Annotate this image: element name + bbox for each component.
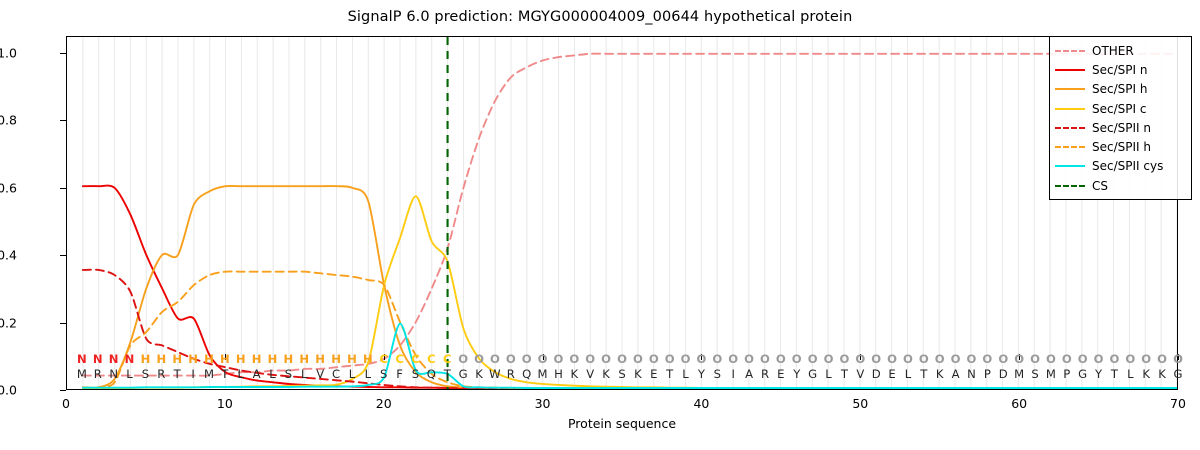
legend-swatch — [1055, 50, 1085, 52]
sequence-residue: E — [777, 367, 784, 381]
sequence-residue: T — [666, 367, 673, 381]
legend-swatch — [1055, 69, 1085, 71]
annotation-letter: C — [411, 352, 420, 366]
y-tick-label: 0.2 — [0, 315, 17, 330]
legend-swatch — [1055, 108, 1085, 110]
annotation-letter: O — [1078, 352, 1088, 366]
plot-area — [66, 36, 1178, 390]
legend-swatch — [1055, 127, 1085, 129]
legend-label: OTHER — [1092, 44, 1134, 58]
legend-swatch — [1055, 88, 1085, 90]
annotation-letter: O — [522, 352, 532, 366]
sequence-residue: T — [1111, 367, 1118, 381]
annotation-letter: H — [347, 352, 357, 366]
sequence-residue: Y — [1095, 367, 1102, 381]
annotation-letter: N — [109, 352, 119, 366]
annotation-letter: O — [744, 352, 754, 366]
sequence-residue: L — [365, 367, 371, 381]
sequence-residue: L — [269, 367, 275, 381]
legend-item-sec-spii-n[interactable]: Sec/SPII n — [1055, 118, 1186, 137]
sequence-residue: N — [967, 367, 976, 381]
annotation-letter: O — [601, 352, 611, 366]
annotation-letter: O — [776, 352, 786, 366]
y-tick-mark — [60, 53, 66, 54]
annotation-letter: C — [427, 352, 436, 366]
curve-lines — [67, 37, 1177, 389]
sequence-residue: S — [1031, 367, 1038, 381]
sequence-residue: G — [459, 367, 468, 381]
annotation-letter: O — [1125, 352, 1135, 366]
sequence-residue: L — [905, 367, 911, 381]
sequence-residue: P — [984, 367, 991, 381]
x-tick-mark — [66, 354, 67, 360]
annotation-letter: H — [156, 352, 166, 366]
sequence-residue: L — [825, 367, 831, 381]
sequence-residue: T — [841, 367, 848, 381]
x-tick-label: 60 — [1011, 396, 1027, 411]
annotation-letter: O — [1046, 352, 1056, 366]
sequence-residue: V — [316, 367, 324, 381]
annotation-letter: N — [93, 352, 103, 366]
legend-item-sec-spi-h[interactable]: Sec/SPI h — [1055, 80, 1186, 99]
legend-label: Sec/SPI c — [1092, 102, 1146, 116]
annotation-letter: O — [1110, 352, 1120, 366]
sequence-residue: N — [109, 367, 118, 381]
annotation-letter: H — [299, 352, 309, 366]
annotation-letter: O — [506, 352, 516, 366]
annotation-letter: O — [967, 352, 977, 366]
legend: OTHERSec/SPI nSec/SPI hSec/SPI cSec/SPII… — [1049, 36, 1192, 200]
annotation-letter: O — [633, 352, 643, 366]
annotation-letter: O — [569, 352, 579, 366]
annotation-letter: O — [712, 352, 722, 366]
annotation-letter: H — [363, 352, 373, 366]
legend-item-sec-spi-c[interactable]: Sec/SPI c — [1055, 99, 1186, 118]
sequence-residue: M — [204, 367, 214, 381]
sequence-residue: L — [349, 367, 355, 381]
sequence-residue: R — [761, 367, 769, 381]
legend-swatch — [1055, 185, 1085, 187]
sequence-residue: M — [77, 367, 87, 381]
annotation-letter: O — [728, 352, 738, 366]
y-tick-mark — [60, 255, 66, 256]
annotation-letter: O — [760, 352, 770, 366]
sequence-residue: L — [301, 367, 307, 381]
sequence-residue: S — [285, 367, 292, 381]
y-tick-mark — [60, 323, 66, 324]
annotation-letter: H — [315, 352, 325, 366]
legend-item-sec-spi-n[interactable]: Sec/SPI n — [1055, 60, 1186, 79]
annotation-letter: O — [982, 352, 992, 366]
legend-label: Sec/SPII h — [1092, 140, 1151, 154]
legend-swatch — [1055, 146, 1085, 148]
sequence-residue: H — [554, 367, 563, 381]
y-tick-label: 0.8 — [0, 113, 17, 128]
series-sec-spi-c — [83, 196, 1177, 388]
series-sec-spii-n — [83, 270, 1177, 389]
x-tick-label: 0 — [62, 396, 70, 411]
sequence-residue: G — [808, 367, 817, 381]
sequence-residue: E — [888, 367, 895, 381]
y-tick-mark — [60, 390, 66, 391]
sequence-residue: M — [1014, 367, 1024, 381]
signalp-prediction-figure: SignalP 6.0 prediction: MGYG000004009_00… — [0, 0, 1200, 450]
series-other — [83, 54, 1177, 376]
annotation-letter: H — [188, 352, 198, 366]
sequence-residue: T — [221, 367, 228, 381]
annotation-letter: O — [919, 352, 929, 366]
annotation-letter: O — [538, 352, 548, 366]
y-tick-label: 1.0 — [0, 45, 17, 60]
y-tick-label: 0.6 — [0, 180, 17, 195]
sequence-residue: K — [634, 367, 642, 381]
series-sec-spi-h — [83, 186, 1177, 389]
annotation-letter: O — [617, 352, 627, 366]
annotation-letter: H — [284, 352, 294, 366]
sequence-residue: Q — [427, 367, 436, 381]
x-tick-label: 20 — [376, 396, 392, 411]
sequence-residue: T — [444, 367, 451, 381]
y-tick-mark — [60, 188, 66, 189]
annotation-letter: O — [1030, 352, 1040, 366]
sequence-residue: I — [731, 367, 734, 381]
annotation-letter: O — [951, 352, 961, 366]
annotation-letter: O — [1157, 352, 1167, 366]
annotation-letter: O — [490, 352, 500, 366]
sequence-residue: A — [745, 367, 753, 381]
annotation-letter: H — [141, 352, 151, 366]
sequence-residue: R — [157, 367, 165, 381]
sequence-residue: K — [571, 367, 579, 381]
x-tick-label: 40 — [693, 396, 709, 411]
annotation-letter: H — [236, 352, 246, 366]
legend-swatch — [1055, 165, 1085, 167]
sequence-residue: C — [332, 367, 340, 381]
annotation-letter: O — [808, 352, 818, 366]
annotation-letter: O — [585, 352, 595, 366]
y-tick-label: 0.0 — [0, 383, 17, 398]
legend-item-sec-spii-h[interactable]: Sec/SPII h — [1055, 137, 1186, 156]
sequence-residue: M — [538, 367, 548, 381]
annotation-letter: O — [696, 352, 706, 366]
legend-item-other[interactable]: OTHER — [1055, 41, 1186, 60]
sequence-residue: K — [602, 367, 610, 381]
sequence-residue: K — [936, 367, 944, 381]
sequence-residue: G — [1078, 367, 1087, 381]
sequence-residue: V — [856, 367, 864, 381]
annotation-letter: H — [331, 352, 341, 366]
annotation-letter: O — [1014, 352, 1024, 366]
x-tick-label: 10 — [217, 396, 233, 411]
x-tick-label: 30 — [535, 396, 551, 411]
sequence-residue: R — [94, 367, 102, 381]
annotation-letter: O — [1062, 352, 1072, 366]
sequence-residue: D — [872, 367, 881, 381]
annotation-letter: H — [172, 352, 182, 366]
x-tick-label: 50 — [852, 396, 868, 411]
sequence-residue: P — [1063, 367, 1070, 381]
y-tick-label: 0.4 — [0, 248, 17, 263]
legend-label: CS — [1092, 179, 1108, 193]
sequence-residue: Y — [698, 367, 705, 381]
annotation-letter: O — [681, 352, 691, 366]
sequence-residue: K — [475, 367, 483, 381]
x-axis-label: Protein sequence — [66, 416, 1178, 431]
sequence-residue: Y — [793, 367, 800, 381]
sequence-residue: D — [999, 367, 1008, 381]
sequence-residue: F — [396, 367, 403, 381]
annotation-letter: O — [1094, 352, 1104, 366]
sequence-residue: L — [126, 367, 132, 381]
legend-item-sec-spii-cys[interactable]: Sec/SPII cys — [1055, 157, 1186, 176]
annotation-letter: H — [204, 352, 214, 366]
annotation-letter: N — [125, 352, 135, 366]
annotation-letter: H — [220, 352, 230, 366]
sequence-residue: A — [253, 367, 261, 381]
annotation-letter: H — [268, 352, 278, 366]
sequence-residue: S — [618, 367, 625, 381]
sequence-residue: S — [412, 367, 419, 381]
annotation-letter: O — [887, 352, 897, 366]
sequence-residue: G — [1174, 367, 1183, 381]
legend-label: Sec/SPI n — [1092, 63, 1147, 77]
sequence-residue: M — [1046, 367, 1056, 381]
annotation-letter: O — [665, 352, 675, 366]
legend-label: Sec/SPII n — [1092, 121, 1151, 135]
annotation-letter: O — [554, 352, 564, 366]
sequence-residue: I — [191, 367, 194, 381]
legend-item-cs[interactable]: CS — [1055, 176, 1186, 195]
annotation-letter: C — [379, 352, 388, 366]
sequence-residue: S — [380, 367, 387, 381]
page-title: SignalP 6.0 prediction: MGYG000004009_00… — [0, 9, 1200, 25]
annotation-letter: O — [824, 352, 834, 366]
y-tick-mark — [60, 120, 66, 121]
annotation-letter: O — [998, 352, 1008, 366]
annotation-letter: O — [903, 352, 913, 366]
legend-label: Sec/SPI h — [1092, 82, 1147, 96]
sequence-residue: S — [142, 367, 149, 381]
sequence-residue: E — [650, 367, 657, 381]
annotation-letter: O — [839, 352, 849, 366]
sequence-residue: A — [952, 367, 960, 381]
annotation-letter: C — [395, 352, 404, 366]
annotation-letter: C — [443, 352, 452, 366]
sequence-residue: T — [174, 367, 181, 381]
sequence-residue: R — [507, 367, 515, 381]
annotation-letter: O — [935, 352, 945, 366]
annotation-letter: H — [252, 352, 262, 366]
annotation-letter: O — [1173, 352, 1183, 366]
x-tick-label: 70 — [1170, 396, 1186, 411]
sequence-residue: L — [682, 367, 688, 381]
annotation-letter: O — [855, 352, 865, 366]
sequence-residue: L — [238, 367, 244, 381]
annotation-letter: O — [474, 352, 484, 366]
annotation-letter: N — [77, 352, 87, 366]
legend-label: Sec/SPII cys — [1092, 159, 1163, 173]
sequence-residue: K — [1158, 367, 1166, 381]
annotation-letter: O — [792, 352, 802, 366]
annotation-letter: O — [1141, 352, 1151, 366]
sequence-residue: T — [920, 367, 927, 381]
sequence-residue: S — [714, 367, 721, 381]
annotation-letter: O — [649, 352, 659, 366]
sequence-residue: Q — [522, 367, 531, 381]
series-sec-spi-n — [83, 186, 1177, 389]
sequence-residue: W — [489, 367, 500, 381]
annotation-letter: O — [871, 352, 881, 366]
sequence-residue: K — [1142, 367, 1150, 381]
sequence-residue: V — [586, 367, 594, 381]
annotation-letter: O — [458, 352, 468, 366]
sequence-residue: L — [1127, 367, 1133, 381]
